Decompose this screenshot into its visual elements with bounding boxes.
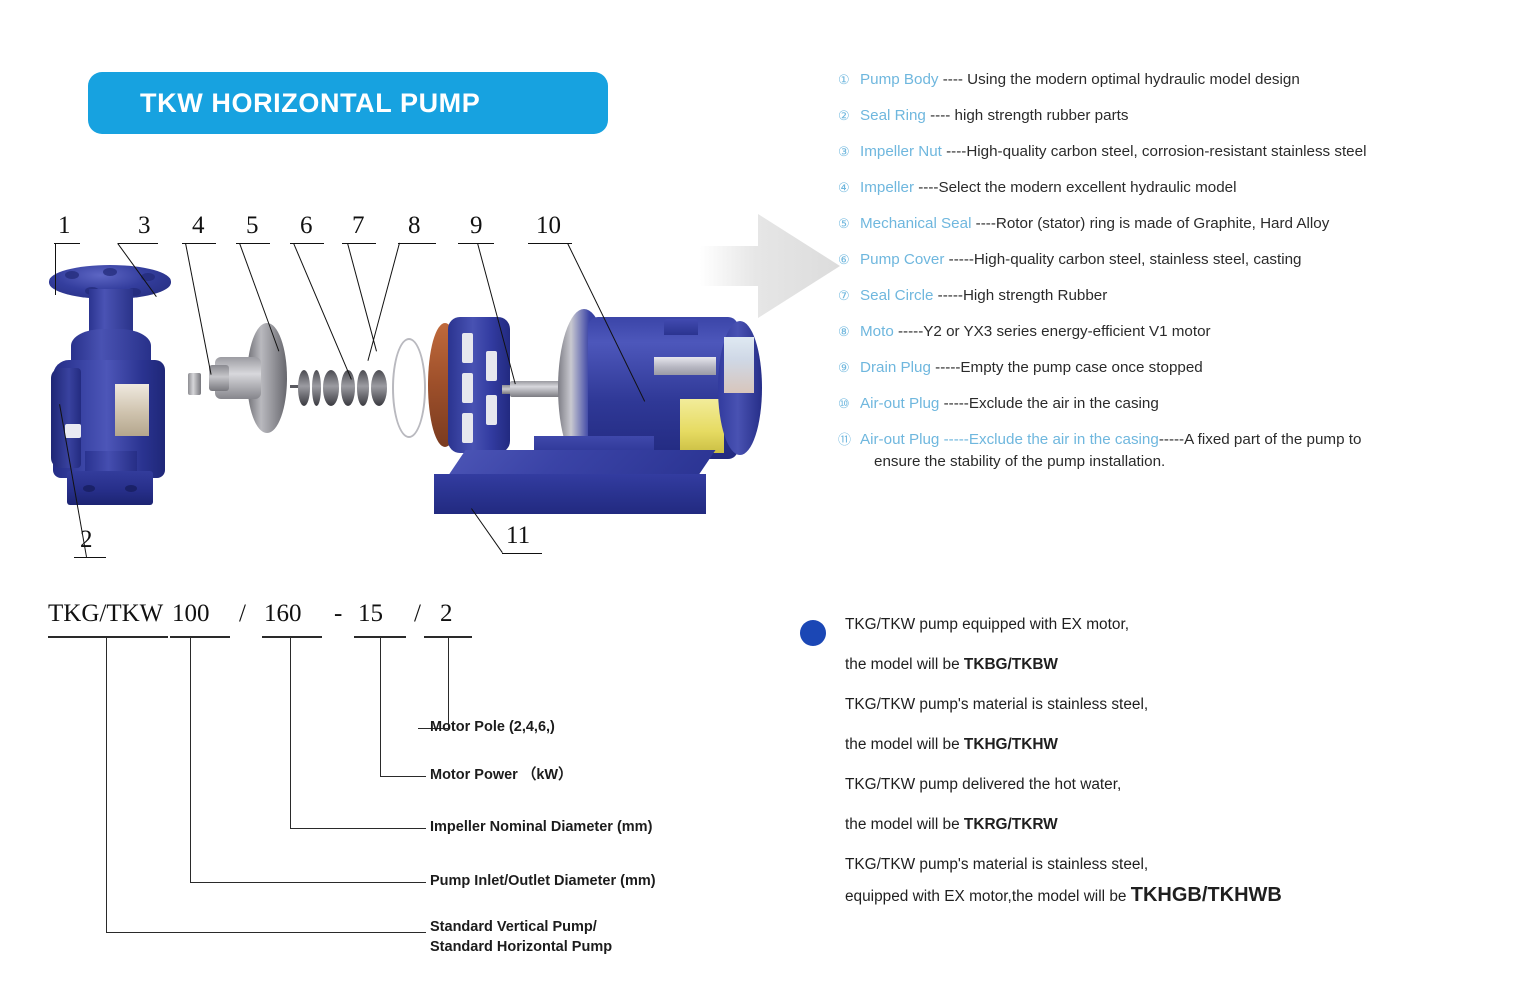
casing-nameplate xyxy=(115,384,149,436)
legend-desc: ---- high strength rubber parts xyxy=(926,107,1129,124)
legend-item: ⑤ Mechanical Seal ----Rotor (stator) rin… xyxy=(838,214,1498,233)
parts-legend: ① Pump Body ---- Using the modern optima… xyxy=(838,70,1498,488)
label-inlet-outlet: Pump Inlet/Outlet Diameter (mm) xyxy=(430,872,656,892)
impeller-nut-part xyxy=(188,373,201,395)
legend-blue-tail: -----Exclude the air in the casing xyxy=(939,431,1158,448)
mechanical-seal-part xyxy=(298,370,390,406)
legend-part-name: Air-out Plug xyxy=(860,431,939,448)
callout-11: 11 xyxy=(506,523,530,548)
legend-desc: -----High strength Rubber xyxy=(933,287,1107,304)
legend-number: ⑤ xyxy=(838,214,860,233)
note-line: TKG/TKW pump's material is stainless ste… xyxy=(845,855,1465,875)
pump-foot xyxy=(67,471,153,505)
page-title: TKW HORIZONTAL PUMP xyxy=(140,88,480,119)
legend-desc: -----High-quality carbon steel, stainles… xyxy=(944,251,1301,268)
legend-desc: -----Exclude the air in the casing xyxy=(939,395,1158,412)
legend-number: ⑦ xyxy=(838,286,860,305)
note-line-last: equipped with EX motor,the model will be… xyxy=(845,882,1465,908)
legend-desc: ---- Using the modern optimal hydraulic … xyxy=(939,71,1300,88)
legend-desc: -----A fixed part of the pump to xyxy=(1159,431,1362,448)
legend-item: ⑦ Seal Circle -----High strength Rubber xyxy=(838,286,1498,305)
note-pre: TKG/TKW pump's material is stainless ste… xyxy=(845,856,1148,873)
callout-9: 9 xyxy=(470,213,483,238)
legend-part-name: Impeller Nut xyxy=(860,143,942,160)
legend-number: ⑧ xyxy=(838,322,860,341)
legend-item: ⑨ Drain Plug -----Empty the pump case on… xyxy=(838,358,1498,377)
code-separator-3: / xyxy=(414,600,421,628)
note-line: the model will be TKBG/TKBW xyxy=(845,655,1465,675)
code-segment-impeller: 160 xyxy=(264,600,302,628)
label-motor-pole: Motor Pole (2,4,6,) xyxy=(430,718,555,738)
code-separator-2: - xyxy=(334,600,342,628)
note-line: the model will be TKRG/TKRW xyxy=(845,815,1465,835)
model-variants-notes: TKG/TKW pump equipped with EX motor, the… xyxy=(845,615,1465,928)
callout-5: 5 xyxy=(246,213,259,238)
code-separator-1: / xyxy=(239,600,246,628)
baseplate-part xyxy=(448,450,718,522)
legend-number: ⑩ xyxy=(838,394,860,413)
page-title-banner: TKW HORIZONTAL PUMP xyxy=(88,72,608,134)
note-pre: TKG/TKW pump's material is stainless ste… xyxy=(845,696,1148,713)
label-impeller-diameter: Impeller Nominal Diameter (mm) xyxy=(430,818,652,838)
legend-text: Pump Cover -----High-quality carbon stee… xyxy=(860,250,1301,269)
legend-desc: ----Select the modern excellent hydrauli… xyxy=(914,179,1236,196)
page-root: TKW HORIZONTAL PUMP xyxy=(0,0,1513,1000)
callout-8: 8 xyxy=(408,213,421,238)
legend-part-name: Air-out Plug xyxy=(860,395,939,412)
note-pre: the model will be xyxy=(845,816,964,833)
drain-plug-part xyxy=(65,424,81,438)
note-pre: equipped with EX motor,the model will be xyxy=(845,888,1131,905)
legend-text: Seal Circle -----High strength Rubber xyxy=(860,286,1107,305)
note-line: TKG/TKW pump delivered the hot water, xyxy=(845,775,1465,795)
right-arrow-icon xyxy=(700,212,840,320)
legend-desc-line2: ensure the stability of the pump install… xyxy=(860,452,1361,471)
note-model: TKHG/TKHW xyxy=(964,736,1058,753)
legend-part-name: Impeller xyxy=(860,179,914,196)
legend-part-name: Seal Ring xyxy=(860,107,926,124)
legend-text: Mechanical Seal ----Rotor (stator) ring … xyxy=(860,214,1329,233)
legend-part-name: Pump Cover xyxy=(860,251,944,268)
legend-item: ④ Impeller ----Select the modern excelle… xyxy=(838,178,1498,197)
note-line: TKG/TKW pump's material is stainless ste… xyxy=(845,695,1465,715)
legend-item: ② Seal Ring ---- high strength rubber pa… xyxy=(838,106,1498,125)
legend-part-name: Pump Body xyxy=(860,71,939,88)
legend-number: ⑥ xyxy=(838,250,860,269)
legend-number: ② xyxy=(838,106,860,125)
legend-item: ③ Impeller Nut ----High-quality carbon s… xyxy=(838,142,1498,161)
legend-item: ① Pump Body ---- Using the modern optima… xyxy=(838,70,1498,89)
legend-number: ⑪ xyxy=(838,430,860,449)
label-standard-pump-line2: Standard Horizontal Pump xyxy=(430,938,612,958)
legend-text: Drain Plug -----Empty the pump case once… xyxy=(860,358,1203,377)
legend-part-name: Seal Circle xyxy=(860,287,933,304)
legend-part-name: Moto xyxy=(860,323,894,340)
legend-desc: -----Empty the pump case once stopped xyxy=(931,359,1203,376)
legend-number: ③ xyxy=(838,142,860,161)
legend-number: ⑨ xyxy=(838,358,860,377)
legend-text: Pump Body ---- Using the modern optimal … xyxy=(860,70,1300,89)
legend-desc: ----Rotor (stator) ring is made of Graph… xyxy=(971,215,1329,232)
note-pre: the model will be xyxy=(845,736,964,753)
callout-1: 1 xyxy=(58,213,71,238)
label-motor-power: Motor Power （kW） xyxy=(430,766,573,786)
note-pre: the model will be xyxy=(845,656,964,673)
legend-text: Impeller Nut ----High-quality carbon ste… xyxy=(860,142,1366,161)
legend-text: Air-out Plug -----Exclude the air in the… xyxy=(860,394,1159,413)
legend-item: ⑥ Pump Cover -----High-quality carbon st… xyxy=(838,250,1498,269)
callout-3: 3 xyxy=(138,213,151,238)
casing-flange xyxy=(51,368,81,468)
code-segment-series: TKG/TKW xyxy=(48,600,163,628)
legend-desc: ----High-quality carbon steel, corrosion… xyxy=(942,143,1367,160)
legend-text: Impeller ----Select the modern excellent… xyxy=(860,178,1236,197)
legend-part-name: Drain Plug xyxy=(860,359,931,376)
callout-6: 6 xyxy=(300,213,313,238)
legend-item: ⑧ Moto -----Y2 or YX3 series energy-effi… xyxy=(838,322,1498,341)
note-pre: TKG/TKW pump delivered the hot water, xyxy=(845,776,1121,793)
impeller-part xyxy=(215,323,287,433)
code-segment-inlet: 100 xyxy=(172,600,210,628)
legend-text: Seal Ring ---- high strength rubber part… xyxy=(860,106,1128,125)
legend-number: ① xyxy=(838,70,860,89)
legend-number: ④ xyxy=(838,178,860,197)
model-code-breakdown: TKG/TKW 100 / 160 - 15 / 2 Motor Pole (2… xyxy=(40,600,720,960)
callout-7: 7 xyxy=(352,213,365,238)
legend-text: Air-out Plug -----Exclude the air in the… xyxy=(860,430,1361,472)
note-model: TKHGB/TKHWB xyxy=(1131,884,1282,906)
legend-item: ⑩ Air-out Plug -----Exclude the air in t… xyxy=(838,394,1498,413)
bullet-icon xyxy=(800,620,826,646)
note-model: TKBG/TKBW xyxy=(964,656,1058,673)
note-line: the model will be TKHG/TKHW xyxy=(845,735,1465,755)
note-line: TKG/TKW pump equipped with EX motor, xyxy=(845,615,1465,635)
exploded-pump-diagram: 1 3 4 5 6 7 8 9 10 2 11 xyxy=(40,205,720,565)
legend-item-11: ⑪ Air-out Plug -----Exclude the air in t… xyxy=(838,430,1498,472)
label-standard-pump-line1: Standard Vertical Pump/ xyxy=(430,918,597,938)
note-model: TKRG/TKRW xyxy=(964,816,1058,833)
code-segment-power: 15 xyxy=(358,600,383,628)
pump-neck xyxy=(89,289,133,351)
note-pre: TKG/TKW pump equipped with EX motor, xyxy=(845,616,1129,633)
code-segment-pole: 2 xyxy=(440,600,453,628)
callout-10: 10 xyxy=(536,213,561,238)
pump-body-part xyxy=(45,265,175,515)
legend-part-name: Mechanical Seal xyxy=(860,215,971,232)
callout-4: 4 xyxy=(192,213,205,238)
seal-circle-part xyxy=(392,338,426,438)
legend-text: Moto -----Y2 or YX3 series energy-effici… xyxy=(860,322,1211,341)
legend-desc: -----Y2 or YX3 series energy-efficient V… xyxy=(894,323,1211,340)
